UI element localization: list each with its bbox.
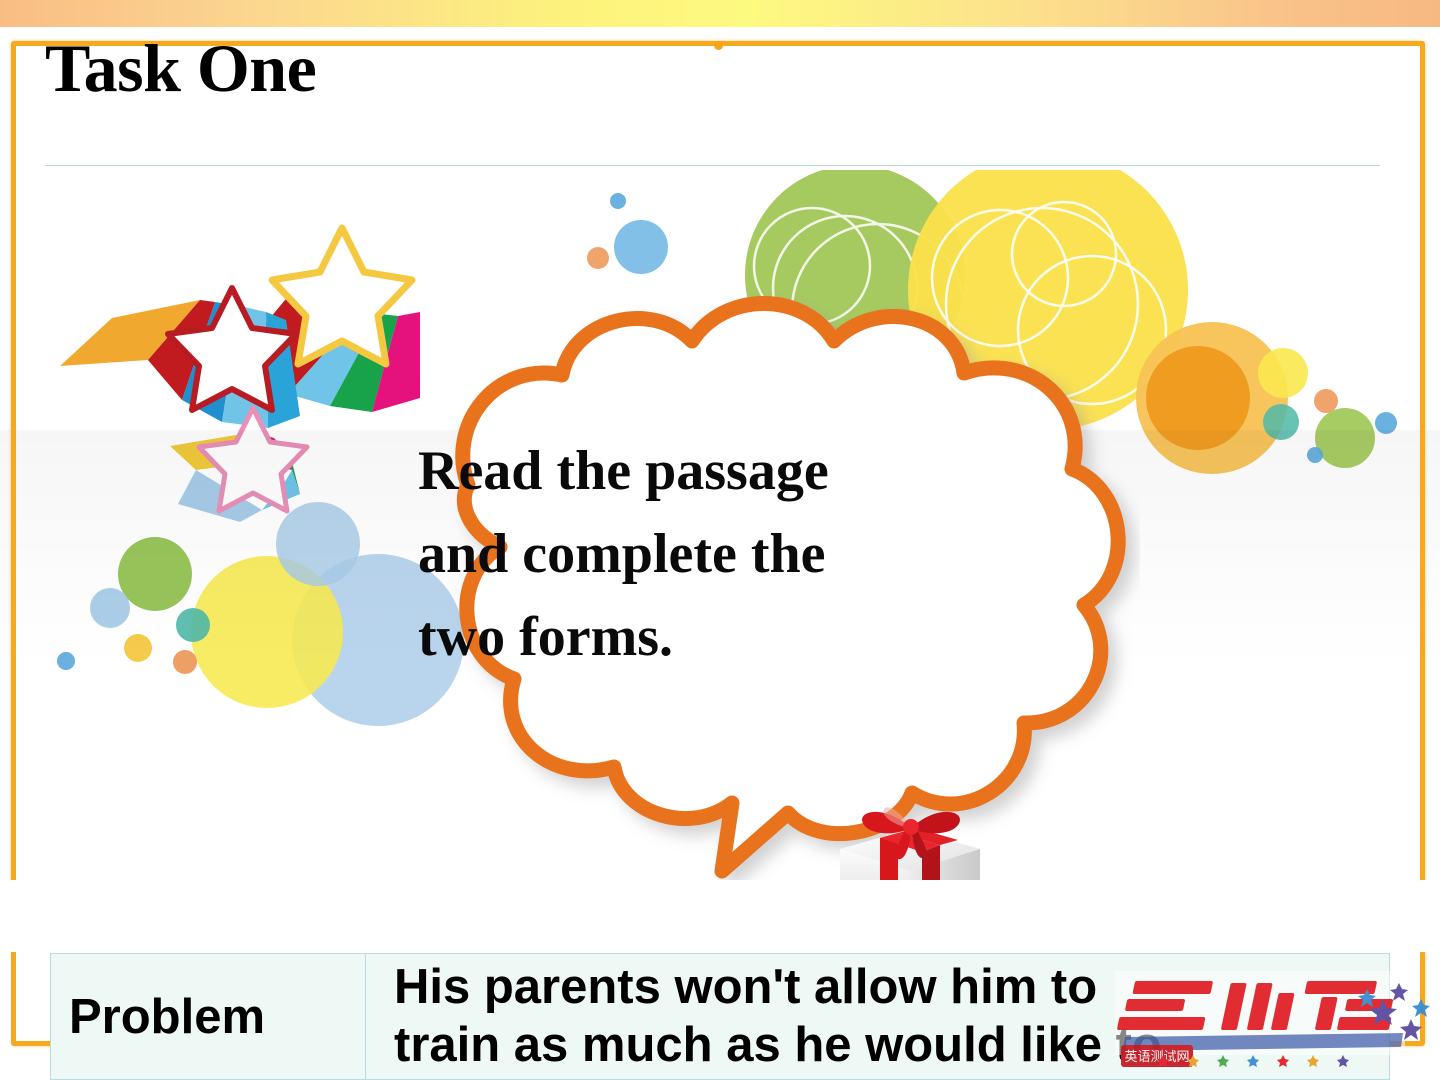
table-row-label: Problem — [51, 954, 366, 1079]
frame-center-dot — [714, 41, 723, 50]
bubble-line-3: two forms. — [418, 596, 1018, 679]
watermark-subtitle: 英语测试网 — [1124, 1050, 1189, 1065]
speech-bubble-text: Read the passage and complete the two fo… — [418, 430, 1018, 679]
bubble-line-2: and complete the — [418, 513, 1018, 596]
english-tests-watermark: 英语测试网 — [1115, 963, 1433, 1075]
speech-bubble: Read the passage and complete the two fo… — [300, 275, 1140, 895]
top-gradient-bar — [0, 0, 1440, 27]
page-title: Task One — [45, 34, 316, 102]
frame-left-mask — [0, 880, 11, 1046]
bubble-line-1: Read the passage — [418, 430, 1018, 513]
title-divider-rule — [45, 165, 1380, 166]
slide-canvas: Task One Read the passage and complete t… — [0, 0, 1440, 1080]
table-overlay-mask — [0, 880, 1440, 952]
